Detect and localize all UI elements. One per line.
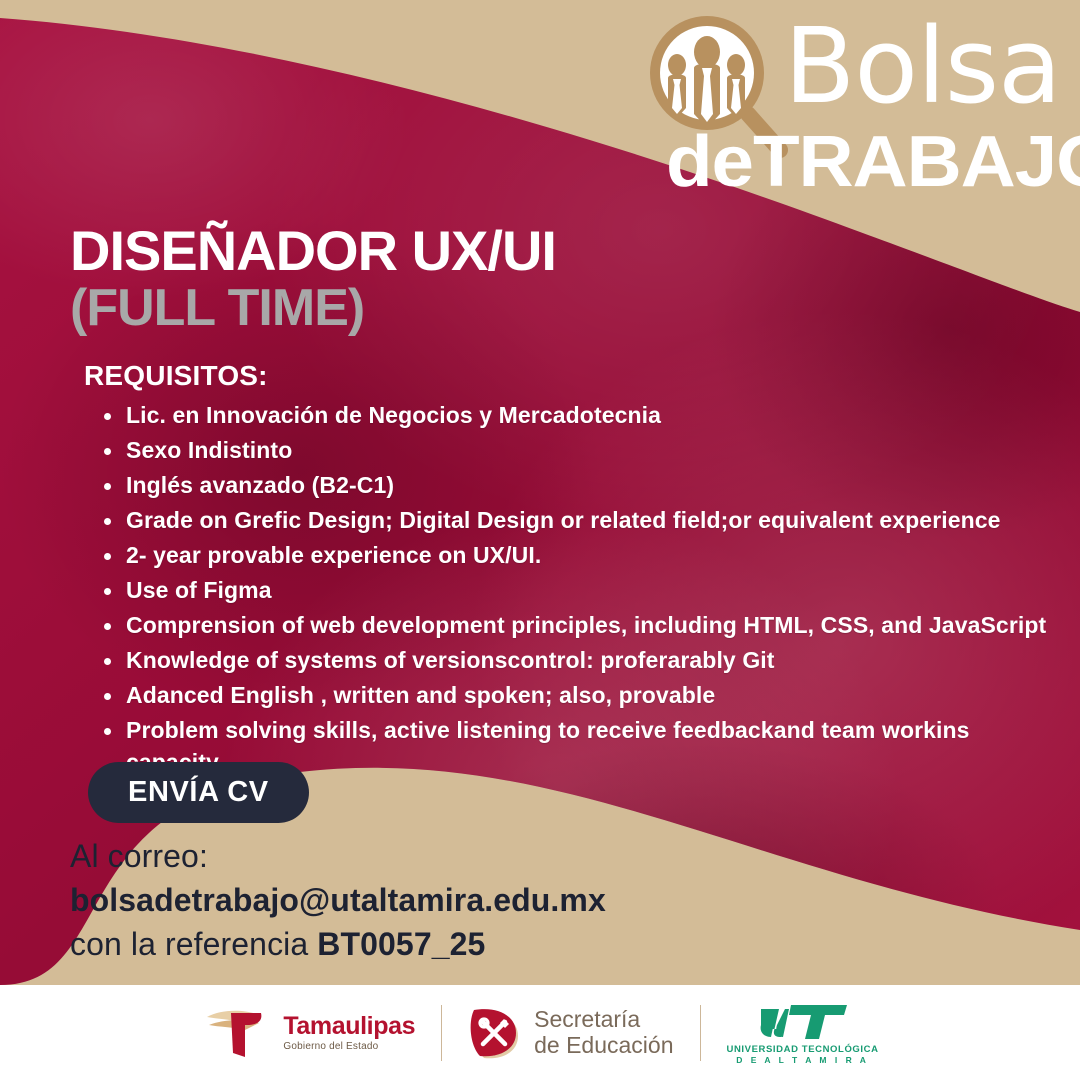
list-item: Knowledge of systems of versionscontrol:…	[96, 645, 1064, 677]
list-item: Lic. en Innovación de Negocios y Mercado…	[96, 400, 1064, 432]
list-item: Grade on Grefic Design; Digital Design o…	[96, 505, 1064, 537]
cta-reference-code: BT0057_25	[317, 926, 485, 962]
cta-reference-line: con la referencia BT0057_25	[70, 926, 485, 963]
secretaria-line-2: de Educación	[534, 1033, 673, 1059]
tamaulipas-logo: Tamaulipas Gobierno del Estado	[175, 1003, 441, 1063]
requirements-list: Lic. en Innovación de Negocios y Mercado…	[96, 400, 1064, 782]
list-item: Comprension of web development principle…	[96, 610, 1064, 642]
footer-logo-bar: Tamaulipas Gobierno del Estado Secretarí…	[0, 985, 1080, 1080]
cta-reference-prefix: con la referencia	[70, 926, 317, 962]
ut-altamira-logo-icon	[755, 1003, 851, 1045]
cta-email-label: Al correo:	[70, 838, 208, 875]
tamaulipas-subtitle: Gobierno del Estado	[283, 1042, 415, 1052]
brand-logo: Bolsa deTRABAJO	[644, 8, 1064, 208]
list-item: Inglés avanzado (B2-C1)	[96, 470, 1064, 502]
list-item: 2- year provable experience on UX/UI.	[96, 540, 1064, 572]
ut-line-2: D E A L T A M I R A	[736, 1056, 869, 1065]
tamaulipas-name: Tamaulipas	[283, 1014, 415, 1039]
requirements-heading: REQUISITOS:	[84, 360, 268, 392]
ut-line-1: UNIVERSIDAD TECNOLÓGICA	[727, 1045, 879, 1055]
secretaria-educacion-logo: Secretaría de Educación	[442, 1002, 699, 1064]
job-title-block: DISEÑADOR UX/UI (FULL TIME)	[70, 222, 770, 336]
job-title: DISEÑADOR UX/UI	[70, 222, 770, 279]
secretaria-line-1: Secretaría	[534, 1007, 673, 1033]
job-subtitle: (FULL TIME)	[70, 281, 770, 336]
logo-word-detrabajo: deTRABAJO	[666, 126, 1080, 198]
list-item: Adanced English , written and spoken; al…	[96, 680, 1064, 712]
tamaulipas-logo-icon	[201, 1003, 273, 1063]
ut-altamira-logo: UNIVERSIDAD TECNOLÓGICA D E A L T A M I …	[701, 1001, 905, 1065]
list-item: Sexo Indistinto	[96, 435, 1064, 467]
list-item: Use of Figma	[96, 575, 1064, 607]
secretaria-educacion-logo-icon	[468, 1002, 524, 1064]
logo-word-bolsa: Bolsa	[784, 14, 1061, 118]
secretaria-educacion-name: Secretaría de Educación	[534, 1007, 673, 1059]
job-posting-poster: Bolsa deTRABAJO DISEÑADOR UX/UI (FULL TI…	[0, 0, 1080, 1080]
cta-email-address[interactable]: bolsadetrabajo@utaltamira.edu.mx	[70, 882, 606, 919]
send-cv-button[interactable]: ENVÍA CV	[88, 762, 309, 823]
